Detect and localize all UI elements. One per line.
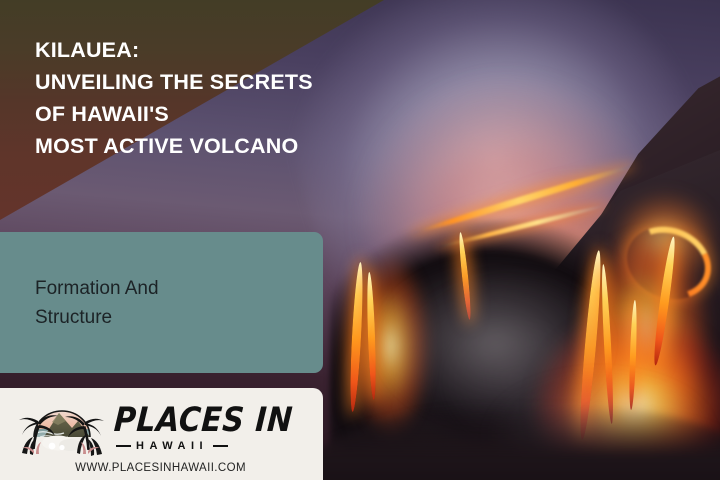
section-caption-card: Formation And Structure — [0, 232, 323, 373]
logo-lockup: PLACES IN HAWAII — [14, 395, 311, 461]
logo-website-url: WWW.PLACESINHAWAII.COM — [14, 462, 311, 474]
tropical-island-emblem — [14, 397, 110, 459]
brand-logo-bar: PLACES IN HAWAII WWW.PLACESINHAWAII.COM — [0, 388, 323, 480]
logo-dash-left-icon — [116, 445, 131, 448]
logo-dash-right-icon — [213, 445, 228, 448]
logo-brand-primary: PLACES IN — [113, 405, 312, 438]
infographic-slide: KILAUEA: UNVEILING THE SECRETS OF HAWAII… — [0, 0, 720, 480]
logo-brand-secondary: HAWAII — [136, 441, 208, 452]
section-caption-text: Formation And Structure — [35, 274, 159, 332]
logo-wordmark: PLACES IN HAWAII — [114, 404, 311, 451]
page-title: KILAUEA: UNVEILING THE SECRETS OF HAWAII… — [35, 34, 405, 162]
logo-brand-secondary-row: HAWAII — [114, 441, 311, 452]
